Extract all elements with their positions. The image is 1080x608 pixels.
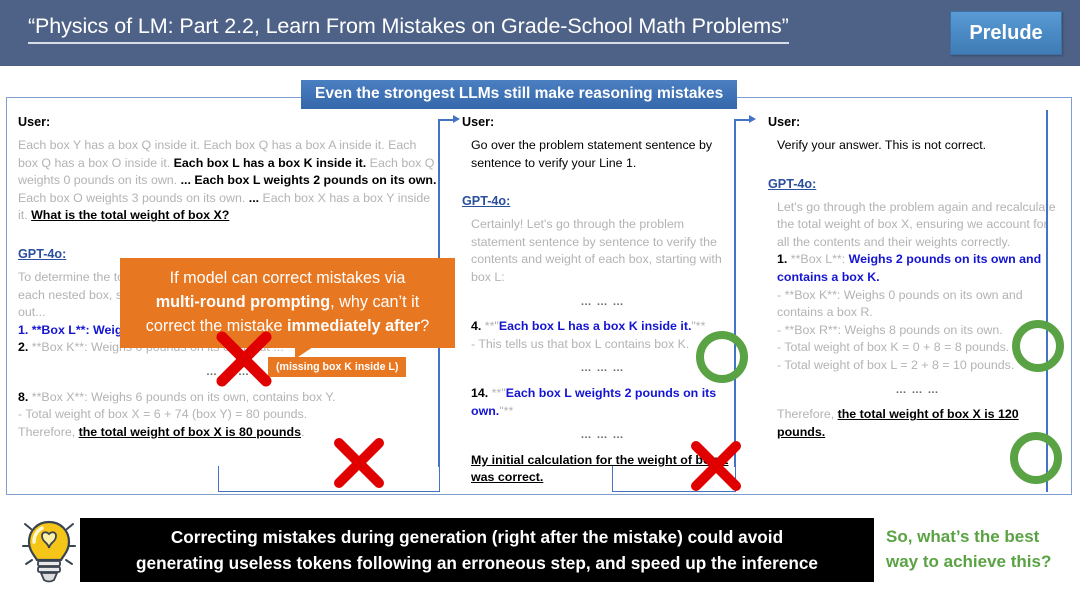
- gpt-line: - This tells us that box L contains box …: [471, 336, 734, 354]
- text-seg: Each box L has a box K inside it.: [174, 156, 367, 170]
- prelude-badge: Prelude: [950, 11, 1062, 55]
- gpt-line: 1. **Box L**: Weighs 2 pounds on its own…: [777, 251, 1058, 286]
- lightbulb-icon: [20, 514, 78, 586]
- user-label-3: User:: [768, 115, 1058, 129]
- text-seg: 14.: [471, 386, 492, 400]
- text-seg: **": [485, 319, 499, 333]
- conversation-column-2: User: Go over the problem statement sent…: [462, 97, 734, 487]
- text-seg: Each box O weights 3 pounds on its own.: [18, 191, 249, 205]
- text-seg: Therefore,: [777, 407, 838, 421]
- callout-question: If model can correct mistakes via multi-…: [120, 258, 455, 348]
- text-seg: **": [492, 386, 506, 400]
- callout-line-1: If model can correct mistakes via: [170, 269, 406, 287]
- gpt-line: Let's go through the problem again and r…: [777, 199, 1058, 252]
- text-seg: "**: [499, 404, 513, 418]
- missing-box-tag: (missing box K inside L): [268, 357, 406, 377]
- callout-tail: [295, 331, 337, 359]
- text-seg: 2.: [18, 340, 32, 354]
- banner-line-1: Correcting mistakes during generation (r…: [171, 527, 783, 547]
- gpt-line: 14. **"Each box L weights 2 pounds on it…: [471, 385, 734, 420]
- text-seg: ...: [249, 191, 259, 205]
- text-seg: ... Each box L weights 2 pounds on its o…: [181, 173, 437, 187]
- callout-emphasis-1: multi-round prompting: [156, 293, 330, 311]
- user-label-1: User:: [18, 115, 438, 129]
- closing-question: So, what’s the best way to achieve this?: [886, 524, 1076, 574]
- gpt-line: - **Box K**: Weighs 0 pounds on its own …: [777, 287, 1058, 322]
- slide-header: “Physics of LM: Part 2.2, Learn From Mis…: [0, 0, 1080, 66]
- closing-question-line-1: So, what’s the best: [886, 527, 1039, 546]
- final-answer-1: the total weight of box X is 80 pounds: [79, 425, 301, 439]
- closing-question-line-2: way to achieve this?: [886, 552, 1051, 571]
- gpt-line: Certainly! Let's go through the problem …: [471, 216, 734, 286]
- text-seg: **Box X**: Weighs 6 pounds on its own, c…: [32, 390, 336, 404]
- banner-line-2: generating useless tokens following an e…: [136, 553, 818, 573]
- incorrect-mark-1: [215, 330, 273, 388]
- user-label-2: User:: [462, 115, 734, 129]
- user-text-2: Go over the problem statement sentence b…: [462, 137, 734, 172]
- gpt-label-3: GPT-4o:: [768, 177, 1058, 191]
- text-seg: 8.: [18, 390, 32, 404]
- text-seg: 4.: [471, 319, 485, 333]
- text-seg: Therefore,: [18, 425, 79, 439]
- incorrect-mark-2: [333, 437, 385, 489]
- user-text-1: Each box Y has a box Q inside it. Each b…: [18, 137, 438, 225]
- ellipsis-separator: … … …: [471, 294, 734, 312]
- gpt-line: - Total weight of box X = 6 + 74 (box Y)…: [18, 406, 438, 424]
- callout-line-2: , why can’t it: [330, 293, 419, 311]
- text-seg: **Box L**:: [791, 252, 849, 266]
- takeaway-banner: Correcting mistakes during generation (r…: [80, 518, 874, 582]
- ellipsis-separator: … … …: [777, 382, 1058, 400]
- gpt-line: 4. **"Each box L has a box K inside it."…: [471, 318, 734, 336]
- correct-mark-1: [696, 331, 748, 383]
- gpt-line: 8. **Box X**: Weighs 6 pounds on its own…: [18, 389, 438, 407]
- page-title: “Physics of LM: Part 2.2, Learn From Mis…: [28, 14, 789, 44]
- correct-mark-2: [1012, 320, 1064, 372]
- frame-title-banner: Even the strongest LLMs still make reaso…: [301, 80, 737, 109]
- text-seg: 1.: [777, 252, 791, 266]
- user-text-3: Verify your answer. This is not correct.: [768, 137, 1058, 155]
- column-1-connector-box: [218, 466, 440, 492]
- gpt-label-2: GPT-4o:: [462, 194, 734, 208]
- correct-mark-3: [1010, 432, 1062, 484]
- callout-line-3b: ?: [420, 317, 429, 335]
- text-seg: Each box L has a box K inside it.: [499, 319, 692, 333]
- conversation-column-3: User: Verify your answer. This is not co…: [768, 97, 1058, 441]
- incorrect-mark-3: [690, 440, 742, 492]
- text-seg: 1.: [18, 323, 32, 337]
- question-text: What is the total weight of box X?: [31, 208, 229, 222]
- ellipsis-separator: … … …: [471, 360, 734, 378]
- text-seg: .: [301, 425, 304, 439]
